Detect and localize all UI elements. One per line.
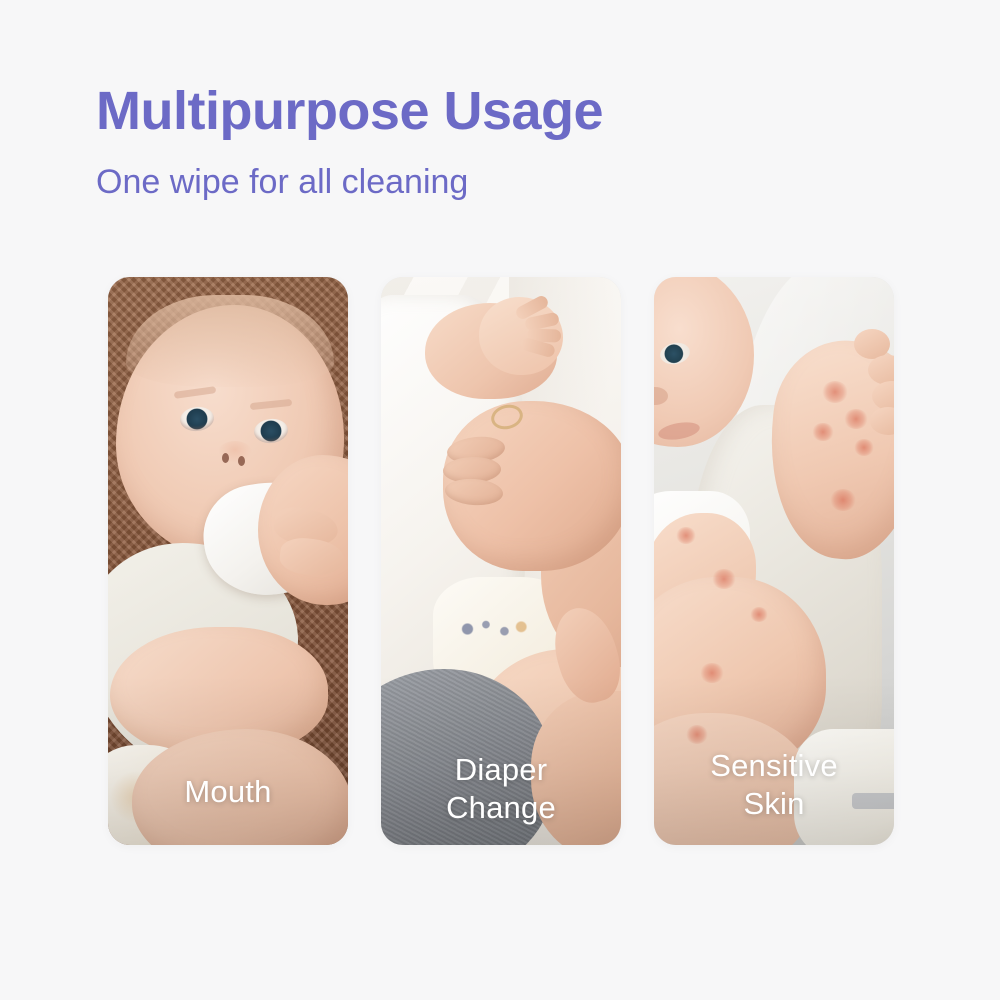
- header: Multipurpose Usage One wipe for all clea…: [96, 82, 916, 202]
- page-subtitle: One wipe for all cleaning: [96, 140, 916, 201]
- skin-spot: [686, 725, 708, 744]
- promo-banner: Multipurpose Usage One wipe for all clea…: [0, 0, 1000, 1000]
- photo-baby-mouth-wipe: [108, 277, 348, 845]
- skin-spot: [830, 489, 856, 511]
- adult-knuckles: [443, 437, 563, 509]
- usage-card-mouth[interactable]: Mouth: [108, 277, 348, 845]
- skin-spot: [712, 569, 736, 589]
- usage-card-sensitive-skin[interactable]: Sensitive Skin: [654, 277, 894, 845]
- card-caption: Diaper Change: [381, 751, 621, 827]
- usage-card-row: Mouth Diaper Change: [108, 277, 894, 845]
- skin-spot: [676, 527, 696, 544]
- skin-spot: [700, 663, 724, 683]
- card-caption: Sensitive Skin: [654, 747, 894, 823]
- baby-fingers: [513, 301, 571, 351]
- page-title: Multipurpose Usage: [96, 82, 916, 140]
- baby-nostril-right: [238, 456, 245, 466]
- baby-nostril-left: [222, 453, 229, 463]
- usage-card-diaper-change[interactable]: Diaper Change: [381, 277, 621, 845]
- baby-toes: [850, 329, 894, 457]
- skin-spot: [854, 439, 874, 456]
- skin-spot: [822, 381, 848, 403]
- skin-spot: [844, 409, 868, 429]
- skin-spot: [750, 607, 768, 622]
- card-caption: Mouth: [108, 773, 348, 811]
- skin-spot: [812, 423, 834, 441]
